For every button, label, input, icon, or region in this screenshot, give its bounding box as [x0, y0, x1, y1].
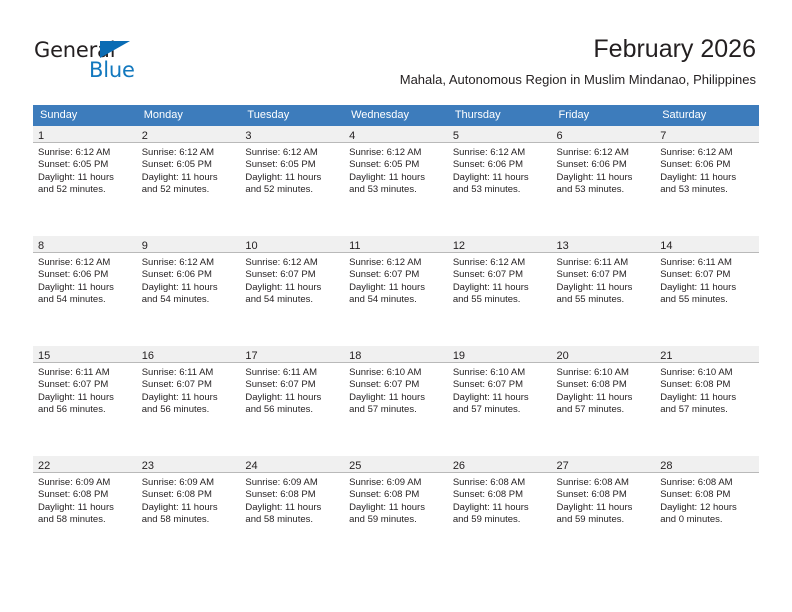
daylight-text-line2: and 57 minutes.: [557, 404, 652, 416]
day-body: Sunrise: 6:09 AM Sunset: 6:08 PM Dayligh…: [344, 473, 448, 527]
daylight-text-line1: Daylight: 11 hours: [660, 172, 755, 184]
day-cell[interactable]: 12 Sunrise: 6:12 AM Sunset: 6:07 PM Dayl…: [448, 236, 552, 346]
daylight-text-line1: Daylight: 11 hours: [245, 392, 340, 404]
day-number-bar: 28: [655, 456, 759, 473]
day-body: Sunrise: 6:12 AM Sunset: 6:06 PM Dayligh…: [655, 143, 759, 197]
sunrise-text: Sunrise: 6:12 AM: [349, 147, 444, 159]
daylight-text-line2: and 53 minutes.: [453, 184, 548, 196]
weekday-header-row: Sunday Monday Tuesday Wednesday Thursday…: [33, 105, 759, 126]
day-number: 24: [245, 460, 257, 472]
sunset-text: Sunset: 6:08 PM: [453, 489, 548, 501]
day-body: Sunrise: 6:09 AM Sunset: 6:08 PM Dayligh…: [137, 473, 241, 527]
sunset-text: Sunset: 6:07 PM: [142, 379, 237, 391]
day-number: 17: [245, 350, 257, 362]
daylight-text-line2: and 55 minutes.: [453, 294, 548, 306]
weekday-header-thursday: Thursday: [448, 105, 552, 126]
daylight-text-line1: Daylight: 11 hours: [38, 392, 133, 404]
sunrise-text: Sunrise: 6:12 AM: [38, 257, 133, 269]
daylight-text-line2: and 58 minutes.: [245, 514, 340, 526]
weekday-header-sunday: Sunday: [33, 105, 137, 126]
day-cell[interactable]: 9 Sunrise: 6:12 AM Sunset: 6:06 PM Dayli…: [137, 236, 241, 346]
day-number: 26: [453, 460, 465, 472]
day-cell[interactable]: 15 Sunrise: 6:11 AM Sunset: 6:07 PM Dayl…: [33, 346, 137, 456]
day-body: Sunrise: 6:11 AM Sunset: 6:07 PM Dayligh…: [33, 363, 137, 417]
weekday-header-saturday: Saturday: [655, 105, 759, 126]
day-number-bar: 15: [33, 346, 137, 363]
sunset-text: Sunset: 6:06 PM: [660, 159, 755, 171]
daylight-text-line1: Daylight: 11 hours: [453, 502, 548, 514]
day-number-bar: 9: [137, 236, 241, 253]
daylight-text-line2: and 55 minutes.: [557, 294, 652, 306]
sunrise-text: Sunrise: 6:12 AM: [453, 257, 548, 269]
page-header: General Blue February 2026 Mahala, Auton…: [0, 0, 792, 104]
daylight-text-line1: Daylight: 11 hours: [349, 392, 444, 404]
day-body: Sunrise: 6:10 AM Sunset: 6:08 PM Dayligh…: [552, 363, 656, 417]
daylight-text-line2: and 54 minutes.: [349, 294, 444, 306]
weekday-header-friday: Friday: [552, 105, 656, 126]
sunrise-text: Sunrise: 6:12 AM: [557, 147, 652, 159]
day-cell[interactable]: 14 Sunrise: 6:11 AM Sunset: 6:07 PM Dayl…: [655, 236, 759, 346]
day-body: Sunrise: 6:10 AM Sunset: 6:08 PM Dayligh…: [655, 363, 759, 417]
day-body: Sunrise: 6:12 AM Sunset: 6:05 PM Dayligh…: [344, 143, 448, 197]
daylight-text-line1: Daylight: 11 hours: [349, 172, 444, 184]
day-cell[interactable]: 22 Sunrise: 6:09 AM Sunset: 6:08 PM Dayl…: [33, 456, 137, 566]
daylight-text-line2: and 59 minutes.: [349, 514, 444, 526]
daylight-text-line1: Daylight: 11 hours: [557, 172, 652, 184]
day-cell[interactable]: 28 Sunrise: 6:08 AM Sunset: 6:08 PM Dayl…: [655, 456, 759, 566]
general-blue-logo[interactable]: General Blue: [34, 38, 154, 84]
day-body: Sunrise: 6:12 AM Sunset: 6:05 PM Dayligh…: [240, 143, 344, 197]
sunset-text: Sunset: 6:07 PM: [349, 269, 444, 281]
daylight-text-line1: Daylight: 11 hours: [453, 282, 548, 294]
day-cell[interactable]: 27 Sunrise: 6:08 AM Sunset: 6:08 PM Dayl…: [552, 456, 656, 566]
day-number-bar: 24: [240, 456, 344, 473]
daylight-text-line1: Daylight: 11 hours: [245, 502, 340, 514]
day-body: Sunrise: 6:12 AM Sunset: 6:07 PM Dayligh…: [240, 253, 344, 307]
day-number-bar: 8: [33, 236, 137, 253]
sunrise-text: Sunrise: 6:12 AM: [38, 147, 133, 159]
day-number-bar: 6: [552, 126, 656, 143]
day-cell[interactable]: 20 Sunrise: 6:10 AM Sunset: 6:08 PM Dayl…: [552, 346, 656, 456]
sunset-text: Sunset: 6:05 PM: [349, 159, 444, 171]
day-cell[interactable]: 18 Sunrise: 6:10 AM Sunset: 6:07 PM Dayl…: [344, 346, 448, 456]
weekday-header-tuesday: Tuesday: [240, 105, 344, 126]
weekday-header-wednesday: Wednesday: [344, 105, 448, 126]
day-number: 2: [142, 130, 148, 142]
daylight-text-line1: Daylight: 12 hours: [660, 502, 755, 514]
day-cell[interactable]: 5 Sunrise: 6:12 AM Sunset: 6:06 PM Dayli…: [448, 126, 552, 236]
day-number: 25: [349, 460, 361, 472]
day-number: 9: [142, 240, 148, 252]
day-body: Sunrise: 6:11 AM Sunset: 6:07 PM Dayligh…: [240, 363, 344, 417]
day-cell[interactable]: 24 Sunrise: 6:09 AM Sunset: 6:08 PM Dayl…: [240, 456, 344, 566]
day-number: 14: [660, 240, 672, 252]
day-number: 23: [142, 460, 154, 472]
daylight-text-line2: and 53 minutes.: [660, 184, 755, 196]
day-number-bar: 19: [448, 346, 552, 363]
weekday-header-monday: Monday: [137, 105, 241, 126]
daylight-text-line1: Daylight: 11 hours: [557, 282, 652, 294]
daylight-text-line2: and 56 minutes.: [142, 404, 237, 416]
sunrise-text: Sunrise: 6:11 AM: [142, 367, 237, 379]
daylight-text-line2: and 53 minutes.: [349, 184, 444, 196]
sunset-text: Sunset: 6:08 PM: [660, 379, 755, 391]
daylight-text-line1: Daylight: 11 hours: [142, 502, 237, 514]
sunset-text: Sunset: 6:07 PM: [245, 379, 340, 391]
day-number-bar: 21: [655, 346, 759, 363]
daylight-text-line1: Daylight: 11 hours: [142, 392, 237, 404]
week-row: 15 Sunrise: 6:11 AM Sunset: 6:07 PM Dayl…: [33, 346, 759, 456]
day-body: Sunrise: 6:08 AM Sunset: 6:08 PM Dayligh…: [655, 473, 759, 527]
daylight-text-line1: Daylight: 11 hours: [660, 282, 755, 294]
sunrise-text: Sunrise: 6:09 AM: [142, 477, 237, 489]
sunrise-text: Sunrise: 6:11 AM: [557, 257, 652, 269]
day-body: Sunrise: 6:08 AM Sunset: 6:08 PM Dayligh…: [448, 473, 552, 527]
daylight-text-line1: Daylight: 11 hours: [349, 282, 444, 294]
sunrise-text: Sunrise: 6:10 AM: [453, 367, 548, 379]
daylight-text-line2: and 52 minutes.: [38, 184, 133, 196]
day-cell[interactable]: 19 Sunrise: 6:10 AM Sunset: 6:07 PM Dayl…: [448, 346, 552, 456]
sunrise-text: Sunrise: 6:12 AM: [142, 257, 237, 269]
day-number-bar: 16: [137, 346, 241, 363]
daylight-text-line1: Daylight: 11 hours: [557, 392, 652, 404]
day-number-bar: 12: [448, 236, 552, 253]
day-cell[interactable]: 1 Sunrise: 6:12 AM Sunset: 6:05 PM Dayli…: [33, 126, 137, 236]
sunset-text: Sunset: 6:08 PM: [245, 489, 340, 501]
day-body: Sunrise: 6:09 AM Sunset: 6:08 PM Dayligh…: [240, 473, 344, 527]
day-number: 22: [38, 460, 50, 472]
sunrise-text: Sunrise: 6:11 AM: [660, 257, 755, 269]
sunrise-text: Sunrise: 6:08 AM: [557, 477, 652, 489]
sunset-text: Sunset: 6:07 PM: [453, 269, 548, 281]
sunset-text: Sunset: 6:05 PM: [245, 159, 340, 171]
daylight-text-line2: and 55 minutes.: [660, 294, 755, 306]
daylight-text-line2: and 59 minutes.: [453, 514, 548, 526]
day-number-bar: 23: [137, 456, 241, 473]
daylight-text-line2: and 58 minutes.: [142, 514, 237, 526]
daylight-text-line2: and 58 minutes.: [38, 514, 133, 526]
day-body: Sunrise: 6:11 AM Sunset: 6:07 PM Dayligh…: [552, 253, 656, 307]
sunset-text: Sunset: 6:07 PM: [453, 379, 548, 391]
daylight-text-line1: Daylight: 11 hours: [245, 172, 340, 184]
day-number-bar: 1: [33, 126, 137, 143]
week-row: 8 Sunrise: 6:12 AM Sunset: 6:06 PM Dayli…: [33, 236, 759, 346]
daylight-text-line2: and 57 minutes.: [349, 404, 444, 416]
day-number-bar: 18: [344, 346, 448, 363]
day-number-bar: 10: [240, 236, 344, 253]
daylight-text-line1: Daylight: 11 hours: [38, 282, 133, 294]
daylight-text-line2: and 53 minutes.: [557, 184, 652, 196]
day-number: 12: [453, 240, 465, 252]
week-row: 1 Sunrise: 6:12 AM Sunset: 6:05 PM Dayli…: [33, 126, 759, 236]
day-number-bar: 26: [448, 456, 552, 473]
daylight-text-line1: Daylight: 11 hours: [245, 282, 340, 294]
daylight-text-line1: Daylight: 11 hours: [453, 392, 548, 404]
sunrise-text: Sunrise: 6:11 AM: [245, 367, 340, 379]
day-number: 6: [557, 130, 563, 142]
sunset-text: Sunset: 6:08 PM: [557, 489, 652, 501]
page-title: February 2026: [400, 34, 756, 64]
day-body: Sunrise: 6:10 AM Sunset: 6:07 PM Dayligh…: [344, 363, 448, 417]
day-number: 1: [38, 130, 44, 142]
day-cell[interactable]: 4 Sunrise: 6:12 AM Sunset: 6:05 PM Dayli…: [344, 126, 448, 236]
day-number-bar: 20: [552, 346, 656, 363]
day-number: 21: [660, 350, 672, 362]
sunset-text: Sunset: 6:07 PM: [349, 379, 444, 391]
sunset-text: Sunset: 6:06 PM: [557, 159, 652, 171]
daylight-text-line1: Daylight: 11 hours: [38, 502, 133, 514]
sunset-text: Sunset: 6:08 PM: [660, 489, 755, 501]
day-cell[interactable]: 10 Sunrise: 6:12 AM Sunset: 6:07 PM Dayl…: [240, 236, 344, 346]
daylight-text-line2: and 0 minutes.: [660, 514, 755, 526]
day-cell[interactable]: 26 Sunrise: 6:08 AM Sunset: 6:08 PM Dayl…: [448, 456, 552, 566]
day-body: Sunrise: 6:12 AM Sunset: 6:05 PM Dayligh…: [137, 143, 241, 197]
page-subtitle: Mahala, Autonomous Region in Muslim Mind…: [400, 71, 756, 89]
sunrise-text: Sunrise: 6:12 AM: [660, 147, 755, 159]
day-body: Sunrise: 6:12 AM Sunset: 6:06 PM Dayligh…: [552, 143, 656, 197]
day-body: Sunrise: 6:12 AM Sunset: 6:07 PM Dayligh…: [448, 253, 552, 307]
day-number-bar: 2: [137, 126, 241, 143]
day-cell[interactable]: 3 Sunrise: 6:12 AM Sunset: 6:05 PM Dayli…: [240, 126, 344, 236]
day-cell[interactable]: 17 Sunrise: 6:11 AM Sunset: 6:07 PM Dayl…: [240, 346, 344, 456]
sunrise-text: Sunrise: 6:10 AM: [660, 367, 755, 379]
day-number: 4: [349, 130, 355, 142]
daylight-text-line1: Daylight: 11 hours: [453, 172, 548, 184]
sunset-text: Sunset: 6:08 PM: [38, 489, 133, 501]
sunrise-text: Sunrise: 6:09 AM: [38, 477, 133, 489]
sunset-text: Sunset: 6:07 PM: [557, 269, 652, 281]
sunset-text: Sunset: 6:08 PM: [349, 489, 444, 501]
week-row: 22 Sunrise: 6:09 AM Sunset: 6:08 PM Dayl…: [33, 456, 759, 566]
day-number-bar: 11: [344, 236, 448, 253]
sunset-text: Sunset: 6:06 PM: [38, 269, 133, 281]
day-body: Sunrise: 6:12 AM Sunset: 6:06 PM Dayligh…: [137, 253, 241, 307]
daylight-text-line1: Daylight: 11 hours: [142, 282, 237, 294]
day-cell[interactable]: 13 Sunrise: 6:11 AM Sunset: 6:07 PM Dayl…: [552, 236, 656, 346]
day-cell[interactable]: 23 Sunrise: 6:09 AM Sunset: 6:08 PM Dayl…: [137, 456, 241, 566]
day-number-bar: 4: [344, 126, 448, 143]
day-number: 28: [660, 460, 672, 472]
sunset-text: Sunset: 6:07 PM: [38, 379, 133, 391]
day-number: 8: [38, 240, 44, 252]
day-body: Sunrise: 6:12 AM Sunset: 6:07 PM Dayligh…: [344, 253, 448, 307]
sunrise-text: Sunrise: 6:08 AM: [660, 477, 755, 489]
day-body: Sunrise: 6:11 AM Sunset: 6:07 PM Dayligh…: [137, 363, 241, 417]
day-body: Sunrise: 6:10 AM Sunset: 6:07 PM Dayligh…: [448, 363, 552, 417]
day-cell[interactable]: 7 Sunrise: 6:12 AM Sunset: 6:06 PM Dayli…: [655, 126, 759, 236]
day-number: 19: [453, 350, 465, 362]
day-number: 11: [349, 240, 360, 252]
day-number-bar: 25: [344, 456, 448, 473]
sunrise-text: Sunrise: 6:08 AM: [453, 477, 548, 489]
day-body: Sunrise: 6:12 AM Sunset: 6:05 PM Dayligh…: [33, 143, 137, 197]
day-cell[interactable]: 2 Sunrise: 6:12 AM Sunset: 6:05 PM Dayli…: [137, 126, 241, 236]
daylight-text-line2: and 52 minutes.: [245, 184, 340, 196]
day-cell[interactable]: 21 Sunrise: 6:10 AM Sunset: 6:08 PM Dayl…: [655, 346, 759, 456]
daylight-text-line2: and 56 minutes.: [245, 404, 340, 416]
day-number: 15: [38, 350, 50, 362]
sunrise-text: Sunrise: 6:10 AM: [557, 367, 652, 379]
day-body: Sunrise: 6:09 AM Sunset: 6:08 PM Dayligh…: [33, 473, 137, 527]
sunrise-text: Sunrise: 6:10 AM: [349, 367, 444, 379]
daylight-text-line2: and 59 minutes.: [557, 514, 652, 526]
sunrise-text: Sunrise: 6:09 AM: [349, 477, 444, 489]
sunrise-text: Sunrise: 6:12 AM: [245, 257, 340, 269]
day-cell[interactable]: 25 Sunrise: 6:09 AM Sunset: 6:08 PM Dayl…: [344, 456, 448, 566]
daylight-text-line2: and 57 minutes.: [453, 404, 548, 416]
sunrise-text: Sunrise: 6:12 AM: [349, 257, 444, 269]
day-number: 5: [453, 130, 459, 142]
sunrise-text: Sunrise: 6:09 AM: [245, 477, 340, 489]
sunset-text: Sunset: 6:07 PM: [660, 269, 755, 281]
day-number-bar: 5: [448, 126, 552, 143]
day-number-bar: 7: [655, 126, 759, 143]
daylight-text-line1: Daylight: 11 hours: [349, 502, 444, 514]
sunrise-text: Sunrise: 6:12 AM: [245, 147, 340, 159]
calendar-page: General Blue February 2026 Mahala, Auton…: [0, 0, 792, 612]
day-cell[interactable]: 6 Sunrise: 6:12 AM Sunset: 6:06 PM Dayli…: [552, 126, 656, 236]
daylight-text-line2: and 52 minutes.: [142, 184, 237, 196]
day-cell[interactable]: 16 Sunrise: 6:11 AM Sunset: 6:07 PM Dayl…: [137, 346, 241, 456]
day-number: 27: [557, 460, 569, 472]
day-cell[interactable]: 8 Sunrise: 6:12 AM Sunset: 6:06 PM Dayli…: [33, 236, 137, 346]
day-number: 7: [660, 130, 666, 142]
day-number: 20: [557, 350, 569, 362]
day-number-bar: 14: [655, 236, 759, 253]
day-number: 18: [349, 350, 361, 362]
day-number: 13: [557, 240, 569, 252]
logo-text-blue: Blue: [89, 58, 135, 82]
calendar-grid: Sunday Monday Tuesday Wednesday Thursday…: [33, 105, 759, 566]
sunset-text: Sunset: 6:08 PM: [142, 489, 237, 501]
day-body: Sunrise: 6:12 AM Sunset: 6:06 PM Dayligh…: [448, 143, 552, 197]
day-number-bar: 22: [33, 456, 137, 473]
daylight-text-line2: and 54 minutes.: [142, 294, 237, 306]
day-number-bar: 17: [240, 346, 344, 363]
logo-triangle-icon: [100, 41, 130, 58]
sunset-text: Sunset: 6:07 PM: [245, 269, 340, 281]
daylight-text-line1: Daylight: 11 hours: [38, 172, 133, 184]
daylight-text-line2: and 57 minutes.: [660, 404, 755, 416]
sunset-text: Sunset: 6:06 PM: [453, 159, 548, 171]
day-number-bar: 13: [552, 236, 656, 253]
daylight-text-line1: Daylight: 11 hours: [660, 392, 755, 404]
sunset-text: Sunset: 6:05 PM: [38, 159, 133, 171]
day-cell[interactable]: 11 Sunrise: 6:12 AM Sunset: 6:07 PM Dayl…: [344, 236, 448, 346]
sunrise-text: Sunrise: 6:11 AM: [38, 367, 133, 379]
day-body: Sunrise: 6:11 AM Sunset: 6:07 PM Dayligh…: [655, 253, 759, 307]
day-number: 3: [245, 130, 251, 142]
sunset-text: Sunset: 6:06 PM: [142, 269, 237, 281]
daylight-text-line1: Daylight: 11 hours: [142, 172, 237, 184]
day-number: 10: [245, 240, 257, 252]
daylight-text-line2: and 54 minutes.: [38, 294, 133, 306]
day-body: Sunrise: 6:08 AM Sunset: 6:08 PM Dayligh…: [552, 473, 656, 527]
daylight-text-line1: Daylight: 11 hours: [557, 502, 652, 514]
day-number-bar: 27: [552, 456, 656, 473]
sunrise-text: Sunrise: 6:12 AM: [142, 147, 237, 159]
sunrise-text: Sunrise: 6:12 AM: [453, 147, 548, 159]
sunset-text: Sunset: 6:08 PM: [557, 379, 652, 391]
daylight-text-line2: and 54 minutes.: [245, 294, 340, 306]
title-block: February 2026 Mahala, Autonomous Region …: [400, 34, 756, 89]
day-number: 16: [142, 350, 154, 362]
day-number-bar: 3: [240, 126, 344, 143]
sunset-text: Sunset: 6:05 PM: [142, 159, 237, 171]
day-body: Sunrise: 6:12 AM Sunset: 6:06 PM Dayligh…: [33, 253, 137, 307]
daylight-text-line2: and 56 minutes.: [38, 404, 133, 416]
